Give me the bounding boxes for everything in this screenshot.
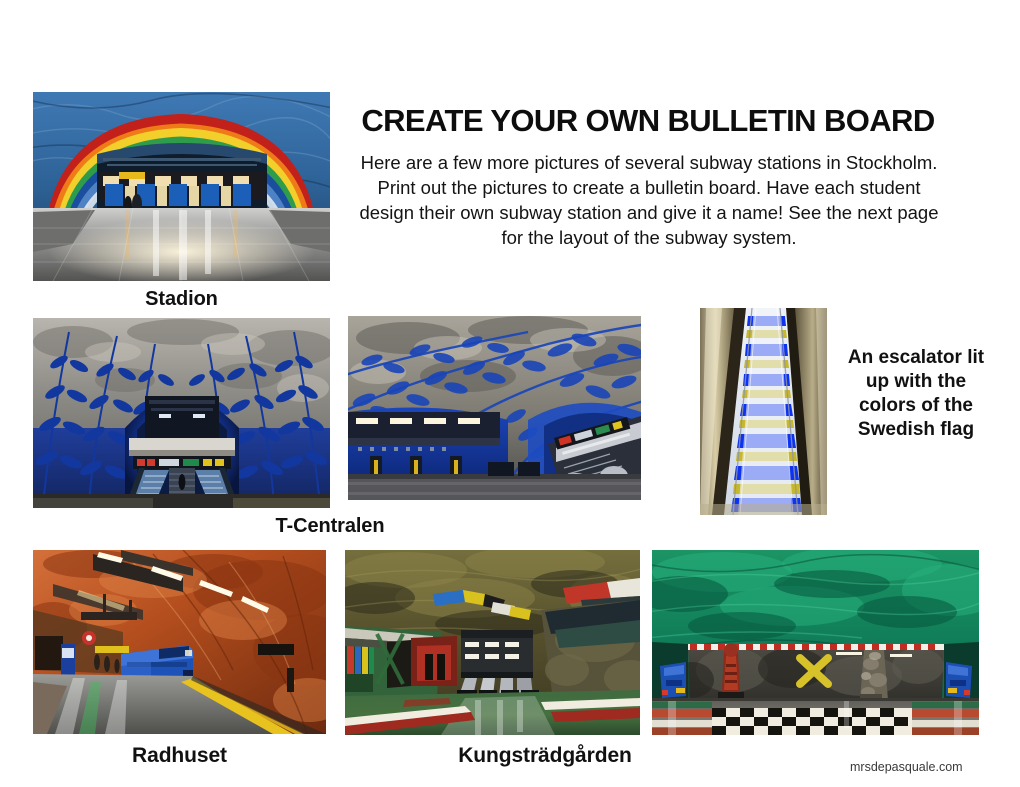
caption-kungstradgarden: Kungsträdgården xyxy=(345,744,745,768)
caption-tcentralen: T-Centralen xyxy=(120,515,540,538)
photo-tcentralen-vault xyxy=(33,318,330,508)
page-title: CREATE YOUR OWN BULLETIN BOARD xyxy=(338,103,958,139)
footer-credit: mrsdepasquale.com xyxy=(850,760,963,774)
caption-radhuset: Radhuset xyxy=(33,744,326,768)
worksheet-page: CREATE YOUR OWN BULLETIN BOARD Here are … xyxy=(0,0,1020,787)
photo-stadion xyxy=(33,92,330,281)
intro-paragraph: Here are a few more pictures of several … xyxy=(352,150,946,250)
photo-tcentralen-platform xyxy=(348,316,641,500)
photo-escalator xyxy=(700,308,827,515)
escalator-note: An escalator lit up with the colors of t… xyxy=(836,346,996,442)
photo-kungstradgarden-hall xyxy=(345,550,640,735)
photo-radhuset xyxy=(33,550,326,734)
caption-stadion: Stadion xyxy=(33,288,330,311)
photo-kungstradgarden-platform xyxy=(652,550,979,735)
